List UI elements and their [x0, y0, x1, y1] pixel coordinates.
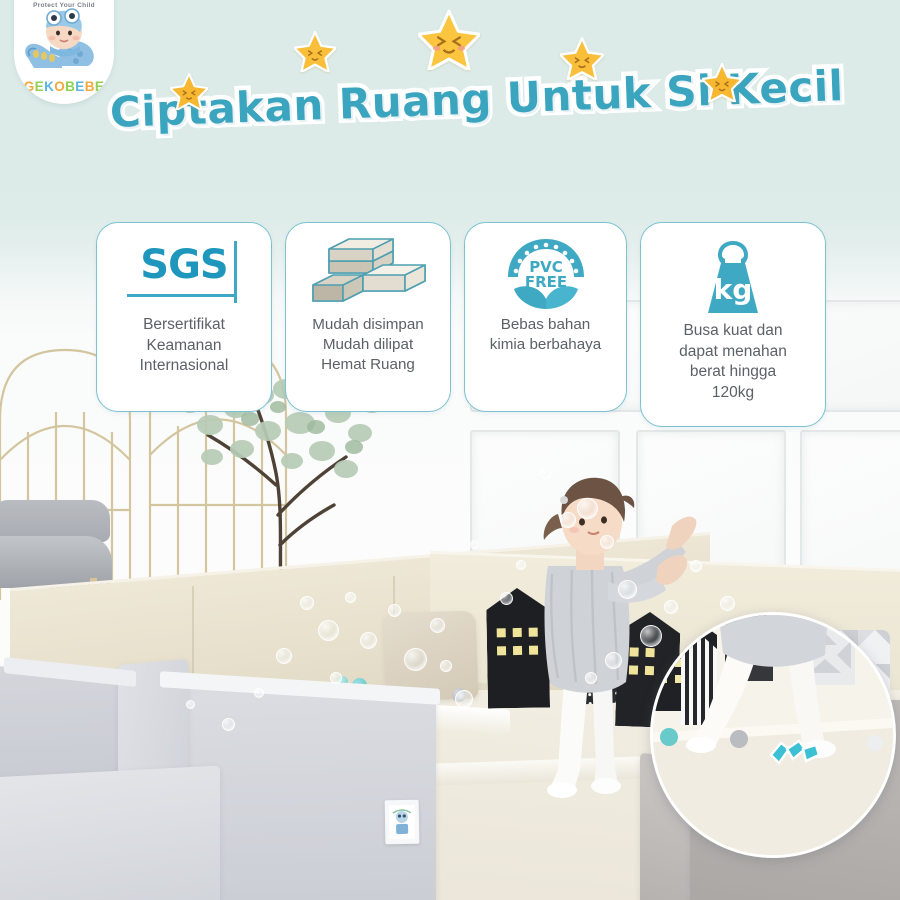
logo-letter: B — [65, 79, 75, 94]
card-line: Bersertifikat — [140, 315, 229, 336]
soap-bubble — [577, 498, 598, 519]
soap-bubble — [440, 660, 452, 672]
feature-card-text: Mudah disimpan Mudah dilipat Hemat Ruang — [312, 315, 423, 376]
card-line: Hemat Ruang — [312, 355, 423, 375]
sgs-underline — [127, 294, 235, 297]
soap-bubble — [404, 648, 427, 671]
card-line: Bebas bahan — [490, 315, 601, 335]
kg-weight-icon: kg — [694, 237, 772, 317]
soap-bubble — [345, 592, 356, 603]
card-line: Internasional — [140, 356, 229, 377]
logo-letter: E — [35, 79, 44, 94]
soap-bubble — [500, 592, 513, 605]
feature-card-pvc-free[interactable]: PVC FREE Bebas bahan kimia berbahaya — [464, 222, 627, 412]
feature-card-text: Bersertifikat Keamanan Internasional — [140, 315, 229, 377]
soap-bubble — [186, 700, 195, 709]
card-line: Busa kuat dan — [679, 321, 787, 342]
soap-bubble — [640, 625, 662, 647]
logo-letter: O — [54, 79, 65, 94]
card-line: dapat menahan — [679, 342, 787, 363]
feature-card-text: Busa kuat dan dapat menahan berat hingga… — [679, 321, 787, 403]
star-icon — [702, 62, 742, 102]
soap-bubble — [254, 688, 264, 698]
sgs-certification-logo-icon: SGS — [125, 237, 243, 311]
soap-bubble — [318, 620, 339, 641]
card-line: 120kg — [679, 383, 787, 404]
card-line: Mudah dilipat — [312, 335, 423, 355]
soap-bubble — [222, 718, 235, 731]
soap-bubble — [516, 560, 526, 570]
soap-bubble — [430, 618, 445, 633]
soap-bubble — [276, 648, 292, 664]
soap-bubble — [720, 596, 735, 611]
soap-bubble — [455, 690, 473, 708]
soap-bubble — [600, 535, 614, 549]
promo-poster: Protect Your Child — [0, 0, 900, 900]
sgs-vertical-rule — [234, 241, 237, 303]
soap-bubble — [690, 560, 702, 572]
card-line: Keamanan — [140, 336, 229, 357]
soap-bubble — [330, 672, 342, 684]
soap-bubble — [664, 600, 678, 614]
logo-letter: E — [95, 79, 104, 94]
gekobebe-product-label — [385, 800, 420, 845]
logo-letter: E — [75, 79, 84, 94]
logo-letter: G — [24, 79, 35, 94]
soap-bubble — [540, 468, 551, 479]
star-icon — [418, 8, 480, 70]
star-icon — [170, 72, 208, 110]
gecko-baby-mascot-icon — [14, 6, 114, 78]
card-line: Mudah disimpan — [312, 315, 423, 335]
card-line: kimia berbahaya — [490, 335, 601, 355]
pvc-free-badge-icon: PVC FREE — [502, 237, 590, 311]
soap-bubble — [618, 580, 637, 599]
feature-card-weight[interactable]: kg Busa kuat dan dapat menahan berat hin… — [640, 222, 826, 427]
playpen-front-panel — [0, 765, 220, 900]
kg-text: kg — [714, 273, 753, 306]
inset-illustration — [653, 615, 896, 858]
cushion-detail-inset — [650, 612, 896, 858]
logo-letter: B — [85, 79, 95, 94]
logo-wordmark: GEKOBEBE — [14, 79, 114, 94]
feature-card-foldable[interactable]: Mudah disimpan Mudah dilipat Hemat Ruang — [285, 222, 451, 412]
star-icon — [294, 30, 336, 72]
soap-bubble — [560, 512, 576, 528]
soap-bubble — [585, 672, 597, 684]
soap-bubble — [470, 540, 479, 549]
soap-bubble — [605, 652, 622, 669]
feature-card-text: Bebas bahan kimia berbahaya — [490, 315, 601, 355]
brand-logo[interactable]: Protect Your Child — [14, 0, 114, 104]
star-icon — [560, 36, 604, 80]
feature-cards: SGS Bersertifikat Keamanan Internasional — [96, 222, 828, 434]
folded-mat-stack-icon — [307, 237, 429, 311]
logo-letter: K — [44, 79, 54, 94]
soap-bubble — [300, 596, 314, 610]
feature-card-sgs[interactable]: SGS Bersertifikat Keamanan Internasional — [96, 222, 272, 412]
soap-bubble — [360, 632, 377, 649]
sgs-mark-text: SGS — [125, 243, 243, 287]
card-line: berat hingga — [679, 362, 787, 383]
soap-bubble — [388, 604, 401, 617]
